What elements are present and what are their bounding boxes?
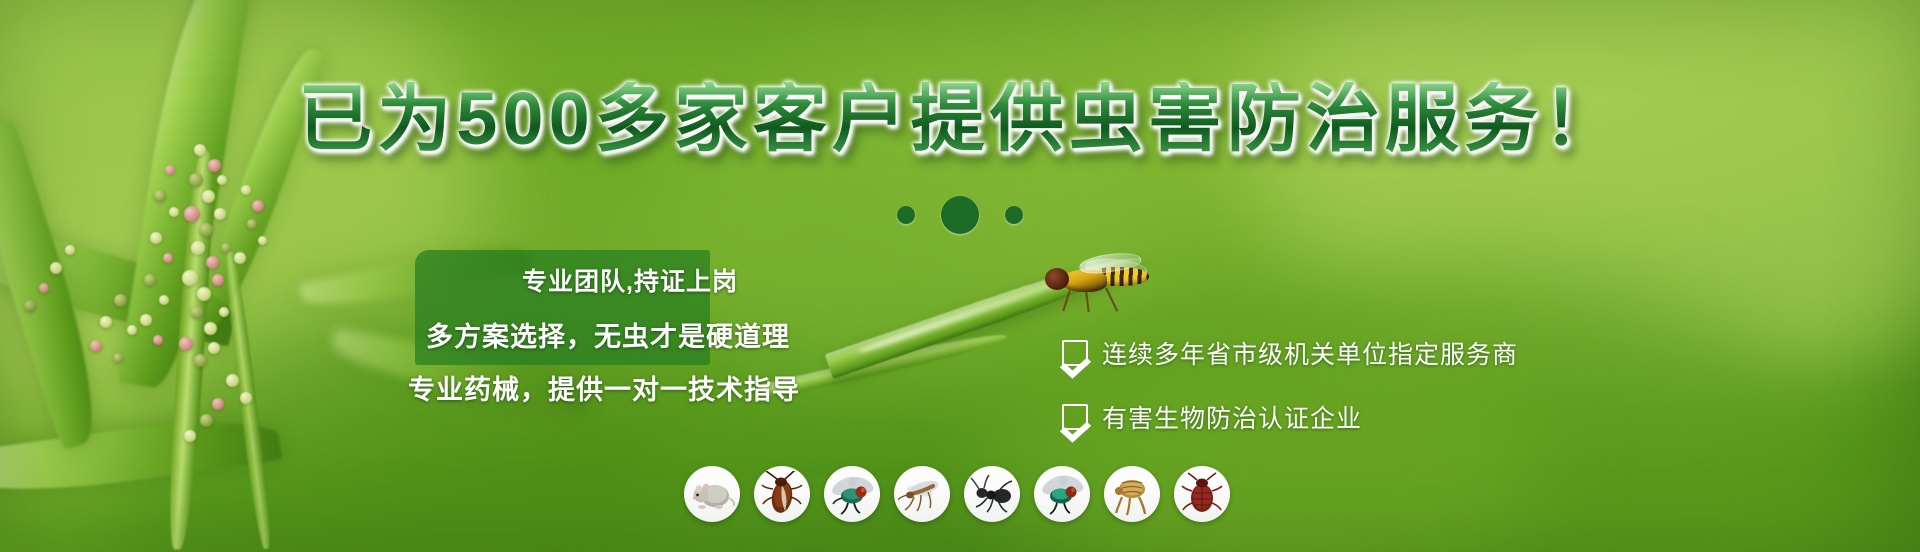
banner-headline: 已为500多家客户提供虫害防治服务！ bbox=[0, 82, 1920, 156]
checkbox-checked-icon bbox=[1062, 340, 1088, 366]
hoverfly-photo bbox=[1035, 248, 1155, 310]
rodent-icon[interactable] bbox=[684, 466, 740, 522]
checklist-item: 有害生物防治认证企业 bbox=[1062, 399, 1518, 435]
checklist-item-label: 连续多年省市级机关单位指定服务商 bbox=[1102, 335, 1518, 371]
pest-icon-strip bbox=[684, 466, 1230, 522]
flea-icon[interactable] bbox=[1104, 466, 1160, 522]
dot-small-right-icon bbox=[1005, 206, 1023, 224]
dot-large-center-icon bbox=[941, 196, 979, 234]
bedbug-icon[interactable] bbox=[1174, 466, 1230, 522]
selling-point-line-1: 专业团队,持证上岗 bbox=[340, 262, 800, 298]
selling-points-text: 专业团队,持证上岗 多方案选择，无虫才是硬道理 专业药械，提供一对一技术指导 bbox=[340, 256, 800, 407]
pest-control-hero-banner: 已为500多家客户提供虫害防治服务！ 专业团队,持证上岗 多方案选择，无虫才是硬… bbox=[0, 0, 1920, 552]
mosquito-icon[interactable] bbox=[894, 466, 950, 522]
checklist-item-label: 有害生物防治认证企业 bbox=[1102, 399, 1362, 435]
dot-small-left-icon bbox=[897, 206, 915, 224]
selling-point-line-2: 多方案选择，无虫才是硬道理 bbox=[340, 315, 800, 354]
checkbox-checked-icon bbox=[1062, 404, 1088, 430]
credentials-checklist: 连续多年省市级机关单位指定服务商 有害生物防治认证企业 bbox=[1062, 335, 1518, 463]
cockroach-icon[interactable] bbox=[754, 466, 810, 522]
selling-point-line-3: 专业药械，提供一对一技术指导 bbox=[340, 368, 800, 407]
ant-icon[interactable] bbox=[964, 466, 1020, 522]
decorative-dots bbox=[0, 196, 1920, 234]
blowfly-icon[interactable] bbox=[1034, 466, 1090, 522]
checklist-item: 连续多年省市级机关单位指定服务商 bbox=[1062, 335, 1518, 371]
fly-icon[interactable] bbox=[824, 466, 880, 522]
